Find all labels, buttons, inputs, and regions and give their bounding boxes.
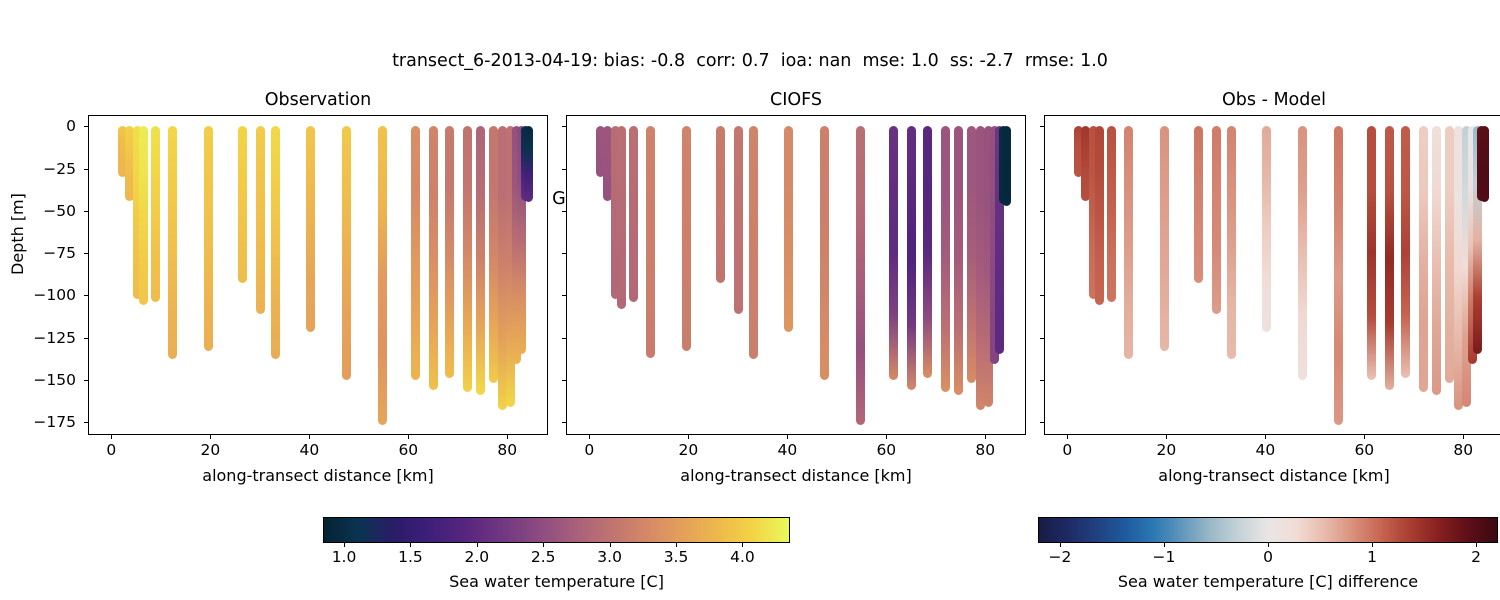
x-tick (1463, 435, 1464, 439)
x-tick-label: 20 (1136, 441, 1196, 459)
ctd-cast-column (463, 126, 472, 391)
ctd-cast-column (954, 126, 963, 395)
ctd-cast-column (716, 126, 725, 283)
colorbar-tick-label: 0 (1238, 548, 1298, 566)
ctd-cast-column (682, 126, 691, 351)
y-tick-label: −75 (6, 246, 76, 260)
y-tick (562, 253, 566, 254)
y-tick-label: −150 (6, 373, 76, 387)
figure-canvas: transect_6-2013-04-19: bias: -0.8 corr: … (0, 0, 1500, 600)
ctd-cast-column (1002, 126, 1011, 205)
plot-area (89, 116, 547, 434)
colorbar-tick-label: −1 (1134, 548, 1194, 566)
ctd-cast-column (1445, 126, 1454, 383)
x-tick-label: 40 (1235, 441, 1295, 459)
x-tick-label: 0 (1037, 441, 1097, 459)
y-tick (562, 295, 566, 296)
colorbar-tick-label: 3.5 (646, 548, 706, 566)
ctd-cast-column (445, 126, 454, 378)
x-axis-label: along-transect distance [km] (1044, 466, 1500, 485)
ctd-cast-column (941, 126, 950, 391)
colorbar-tick (344, 543, 345, 547)
ctd-cast-column (1124, 126, 1133, 359)
ctd-cast-column (1212, 126, 1221, 314)
ctd-cast-column (734, 126, 743, 314)
ctd-cast-column (411, 126, 420, 380)
x-tick (111, 435, 112, 439)
colorbar-tick-label: 1.5 (380, 548, 440, 566)
ctd-cast-column (168, 126, 177, 359)
ctd-cast-column (1432, 126, 1441, 395)
y-tick (562, 211, 566, 212)
ctd-cast-column (1401, 126, 1410, 378)
colorbar-tick (610, 543, 611, 547)
ctd-cast-column (889, 126, 898, 380)
x-axis-label: along-transect distance [km] (88, 466, 548, 485)
x-tick (985, 435, 986, 439)
ctd-cast-column (139, 126, 148, 305)
colorbar-tick (676, 543, 677, 547)
x-tick-label: 0 (81, 441, 141, 459)
suptitle-line-stats: transect_6-2013-04-19: bias: -0.8 corr: … (0, 50, 1500, 73)
colorbar-tick-label: 4.0 (712, 548, 772, 566)
y-tick (1040, 126, 1044, 127)
ctd-cast-column (1262, 126, 1271, 332)
colorbar-tick (1060, 543, 1061, 547)
ctd-cast-column (1367, 126, 1376, 380)
colorbar-tick-label: 3.0 (580, 548, 640, 566)
y-tick (84, 422, 88, 423)
x-tick-label: 60 (378, 441, 438, 459)
y-tick (1040, 169, 1044, 170)
colorbar-tick (477, 543, 478, 547)
y-tick (562, 169, 566, 170)
ctd-cast-column (524, 126, 533, 202)
x-tick-label: 0 (559, 441, 619, 459)
y-tick (84, 211, 88, 212)
y-tick (1040, 211, 1044, 212)
panel-title-1: Observation (88, 88, 548, 112)
y-tick (562, 338, 566, 339)
x-tick (309, 435, 310, 439)
colorbar-tick-label: 1.0 (314, 548, 374, 566)
ctd-cast-column (907, 126, 916, 390)
ctd-cast-column (1160, 126, 1169, 351)
y-tick (562, 380, 566, 381)
x-tick-label: 20 (180, 441, 240, 459)
ctd-cast-column (151, 126, 160, 302)
y-tick (1040, 338, 1044, 339)
x-tick (1364, 435, 1365, 439)
colorbar-tick (410, 543, 411, 547)
colorbar-tick (543, 543, 544, 547)
x-tick-label: 20 (658, 441, 718, 459)
ctd-cast-column (306, 126, 315, 332)
ctd-cast-column (1480, 126, 1489, 202)
ctd-cast-column (629, 126, 638, 302)
x-tick-label: 80 (477, 441, 537, 459)
colorbar-label-1: Sea water temperature [C] (263, 572, 850, 591)
colorbar-tick-label: −2 (1030, 548, 1090, 566)
ctd-cast-column (238, 126, 247, 283)
y-tick (1040, 380, 1044, 381)
x-axis-label: along-transect distance [km] (566, 466, 1026, 485)
x-tick-label: 40 (279, 441, 339, 459)
ctd-cast-column (646, 126, 655, 358)
ctd-cast-column (429, 126, 438, 390)
y-tick (84, 338, 88, 339)
colorbar-1[interactable] (323, 517, 790, 543)
ctd-cast-column (617, 126, 626, 309)
colorbar-tick-label: 1 (1342, 548, 1402, 566)
ctd-cast-column (489, 126, 498, 383)
x-tick-label: 60 (1334, 441, 1394, 459)
x-tick (787, 435, 788, 439)
x-tick (688, 435, 689, 439)
colorbar-tick (1268, 543, 1269, 547)
x-tick (210, 435, 211, 439)
x-tick (1067, 435, 1068, 439)
x-tick-label: 40 (757, 441, 817, 459)
ctd-cast-column (1334, 126, 1343, 425)
ctd-cast-column (476, 126, 485, 395)
x-tick (1166, 435, 1167, 439)
colorbar-tick-label: 2.5 (513, 548, 573, 566)
panel-title-2: CIOFS (566, 88, 1026, 112)
y-tick-label: −50 (6, 204, 76, 218)
y-tick (84, 126, 88, 127)
ctd-cast-column (784, 126, 793, 332)
ctd-cast-column (749, 126, 758, 359)
colorbar-tick-label: 2 (1446, 548, 1500, 566)
panel-title-3: Obs - Model (1044, 88, 1500, 112)
ctd-cast-column (378, 126, 387, 425)
x-tick (1265, 435, 1266, 439)
ctd-cast-column (1419, 126, 1428, 391)
y-tick (84, 169, 88, 170)
plot-panel-1[interactable] (88, 115, 548, 435)
y-tick (84, 380, 88, 381)
y-tick (84, 253, 88, 254)
ctd-cast-column (820, 126, 829, 380)
colorbar-tick (1476, 543, 1477, 547)
x-tick (408, 435, 409, 439)
colorbar-tick (1164, 543, 1165, 547)
colorbar-tick-label: 2.0 (447, 548, 507, 566)
y-tick (1040, 295, 1044, 296)
y-tick (562, 126, 566, 127)
colorbar-tick (742, 543, 743, 547)
y-tick (562, 422, 566, 423)
ctd-cast-column (967, 126, 976, 383)
ctd-cast-column (1095, 126, 1104, 305)
y-tick (1040, 253, 1044, 254)
ctd-cast-column (1227, 126, 1236, 359)
y-tick-label: −25 (6, 162, 76, 176)
plot-panel-2[interactable] (566, 115, 1026, 435)
y-tick-label: 0 (6, 119, 76, 133)
y-tick (1040, 422, 1044, 423)
x-tick (886, 435, 887, 439)
ctd-cast-column (1298, 126, 1307, 380)
ctd-cast-column (1107, 126, 1116, 302)
plot-area (1045, 116, 1500, 434)
y-tick (84, 295, 88, 296)
y-tick-label: −175 (6, 415, 76, 429)
x-tick-label: 60 (856, 441, 916, 459)
x-tick-label: 80 (955, 441, 1015, 459)
ctd-cast-column (1194, 126, 1203, 283)
plot-area (567, 116, 1025, 434)
ctd-cast-column (204, 126, 213, 351)
x-tick (507, 435, 508, 439)
y-tick-label: −125 (6, 331, 76, 345)
ctd-cast-column (856, 126, 865, 425)
x-tick-label: 80 (1433, 441, 1493, 459)
colorbar-label-2: Sea water temperature [C] difference (978, 572, 1500, 591)
ctd-cast-column (923, 126, 932, 378)
ctd-cast-column (1385, 126, 1394, 390)
ctd-cast-column (342, 126, 351, 380)
colorbar-2[interactable] (1038, 517, 1498, 543)
ctd-cast-column (256, 126, 265, 314)
y-tick-label: −100 (6, 288, 76, 302)
ctd-cast-column (271, 126, 280, 359)
colorbar-tick (1372, 543, 1373, 547)
plot-panel-3[interactable] (1044, 115, 1500, 435)
x-tick (589, 435, 590, 439)
